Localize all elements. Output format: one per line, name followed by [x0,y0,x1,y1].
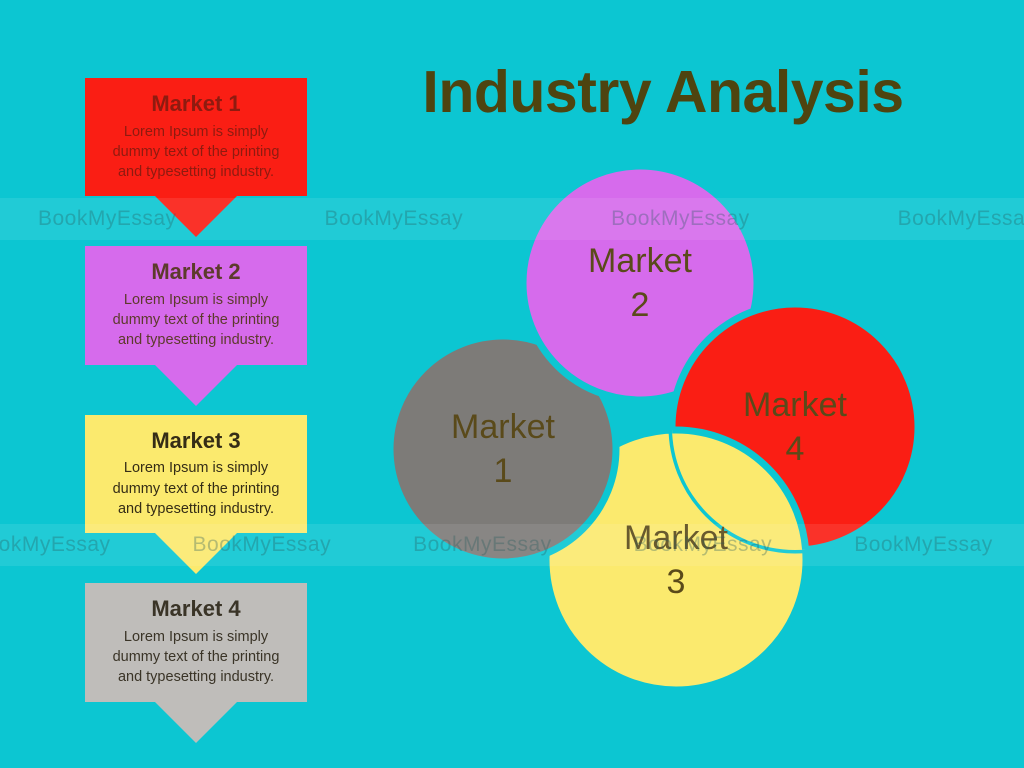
venn-label-line2: 2 [631,286,650,324]
market-card-3-pointer-icon [155,533,237,574]
market-card-3-body: Lorem Ipsum is simply dummy text of the … [95,458,297,519]
venn-label-line1: Market [451,408,555,446]
market-card-4-pointer-icon [155,702,237,743]
market-card-2-pointer-icon [155,365,237,406]
venn-label-line2: 1 [494,452,513,490]
market-card-1-title: Market 1 [95,90,297,118]
venn-label-line1: Market [624,519,728,557]
venn-label-line1: Market [588,242,692,280]
market-card-2-body: Lorem Ipsum is simply dummy text of the … [95,290,297,351]
market-card-2-title: Market 2 [95,258,297,286]
market-card-3[interactable]: Market 3 Lorem Ipsum is simply dummy tex… [85,415,307,533]
market-card-2[interactable]: Market 2 Lorem Ipsum is simply dummy tex… [85,246,307,364]
venn-svg: Market1Market2Market3Market4 [380,160,940,705]
market-card-4-title: Market 4 [95,595,297,623]
venn-label-line1: Market [743,386,847,424]
venn-label-line2: 4 [786,430,805,468]
market-card-list: Market 1 Lorem Ipsum is simply dummy tex… [85,78,307,702]
venn-diagram: Market1Market2Market3Market4 [380,160,940,705]
market-card-4[interactable]: Market 4 Lorem Ipsum is simply dummy tex… [85,583,307,701]
venn-label-line2: 3 [667,563,686,601]
slide-canvas: Industry Analysis Market 1 Lorem Ipsum i… [0,0,1024,768]
market-card-3-title: Market 3 [95,427,297,455]
market-card-1-pointer-icon [155,196,237,237]
market-card-1-body: Lorem Ipsum is simply dummy text of the … [95,122,297,183]
market-card-1[interactable]: Market 1 Lorem Ipsum is simply dummy tex… [85,78,307,196]
market-card-4-body: Lorem Ipsum is simply dummy text of the … [95,627,297,688]
page-title: Industry Analysis [368,62,958,124]
